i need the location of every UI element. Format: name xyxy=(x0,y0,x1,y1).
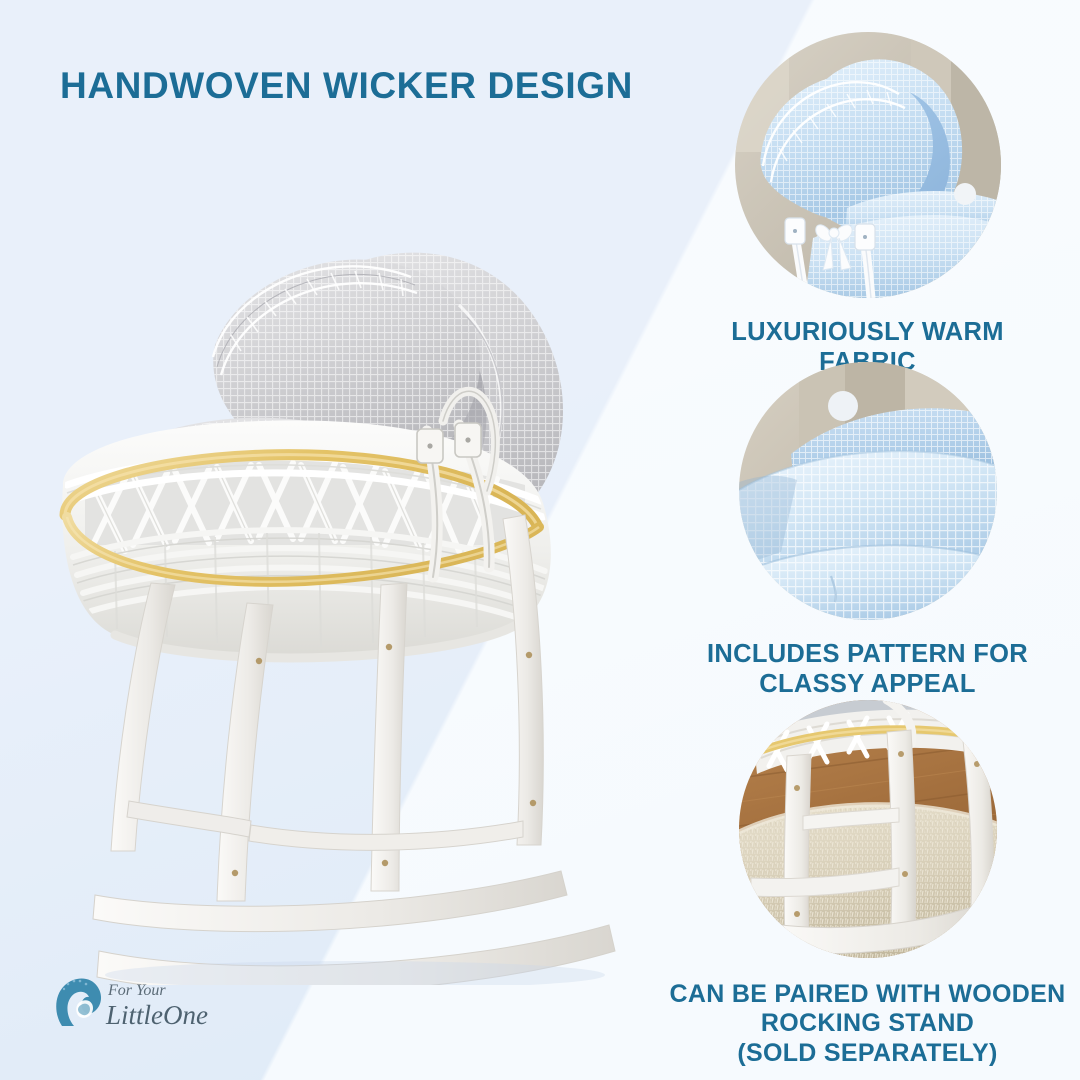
logo-text-line2: LittleOne xyxy=(105,1000,208,1030)
infographic-canvas: HANDWOVEN WICKER DESIGN xyxy=(0,0,1080,1080)
hero-product-image xyxy=(55,185,635,985)
brand-logo: For Your LittleOne xyxy=(50,968,230,1040)
page-title: HANDWOVEN WICKER DESIGN xyxy=(60,66,633,107)
logo-text-line1: For Your xyxy=(107,982,166,999)
feature-item-includes-pattern: INCLUDES PATTERN FOR CLASSY APPEAL xyxy=(655,362,1080,700)
mother-and-baby-icon xyxy=(56,979,101,1027)
rocker-rail-rear xyxy=(93,871,567,932)
feature-item-luxuriously-warm-fabric: LUXURIOUSLY WARM FABRIC xyxy=(655,32,1080,378)
feature-item-rocking-stand: CAN BE PAIRED WITH WOODEN ROCKING STAND … xyxy=(655,700,1080,1068)
feature-caption-rocking-stand: CAN BE PAIRED WITH WOODEN ROCKING STAND … xyxy=(655,980,1080,1068)
feature-list: LUXURIOUSLY WARM FABRIC xyxy=(655,0,1080,1080)
feature-thumbnail-rocking-stand xyxy=(739,700,997,958)
feature-caption-includes-pattern: INCLUDES PATTERN FOR CLASSY APPEAL xyxy=(655,640,1080,700)
feature-thumbnail-warm-fabric xyxy=(735,32,1001,298)
feature-thumbnail-fabric-pattern xyxy=(739,362,997,620)
